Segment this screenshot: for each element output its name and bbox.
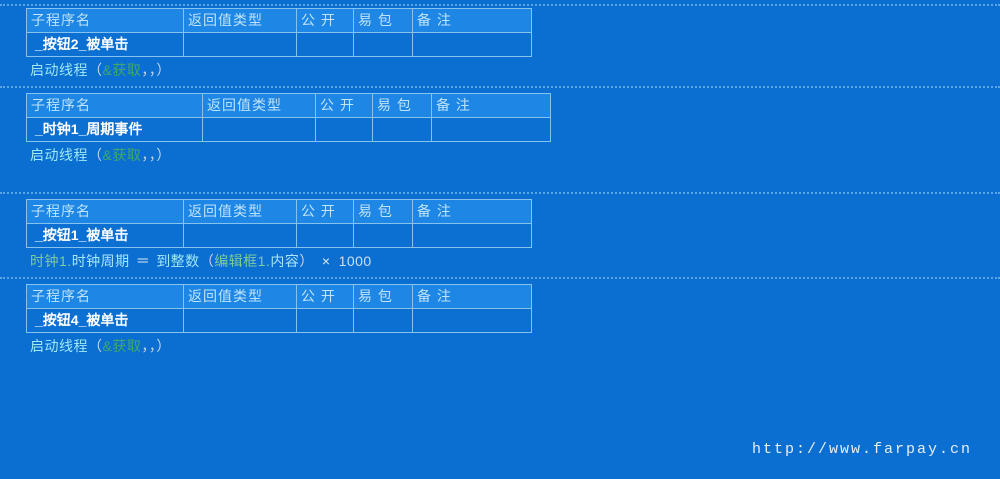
- code-argument: &获取: [103, 62, 142, 78]
- table-row[interactable]: _按钮2_被单击: [27, 33, 532, 57]
- header-easy-pack: 易 包: [354, 9, 413, 33]
- header-public: 公 开: [297, 9, 354, 33]
- code-number-literal: 1000: [339, 253, 372, 269]
- code-function-name: 启动线程: [30, 338, 88, 354]
- subroutine-table-4[interactable]: 子程序名 返回值类型 公 开 易 包 备 注 _按钮4_被单击: [26, 284, 532, 333]
- header-remark: 备 注: [413, 200, 532, 224]
- code-paren-open: （: [200, 253, 215, 269]
- code-object-clock: 时钟1.: [30, 253, 72, 269]
- header-public: 公 开: [316, 94, 373, 118]
- cell-public[interactable]: [297, 33, 354, 57]
- cell-easy-pack[interactable]: [354, 309, 413, 333]
- code-argument: &获取: [103, 338, 142, 354]
- code-block-2: 子程序名 返回值类型 公 开 易 包 备 注 _时钟1_周期事件 启动线程（&获…: [26, 93, 551, 165]
- cell-sub-name[interactable]: _按钮4_被单击: [27, 309, 184, 333]
- cell-sub-name[interactable]: _时钟1_周期事件: [27, 118, 203, 142]
- cell-remark[interactable]: [413, 309, 532, 333]
- code-paren-close: ）: [299, 253, 314, 269]
- code-statement-1[interactable]: 启动线程（&获取，，）: [26, 60, 532, 80]
- code-argument: &获取: [103, 147, 142, 163]
- cell-sub-name[interactable]: _按钮1_被单击: [27, 224, 184, 248]
- header-remark: 备 注: [432, 94, 551, 118]
- code-function-to-int: 到整数: [156, 253, 200, 269]
- code-paren-open: （: [88, 147, 103, 163]
- header-return-type: 返回值类型: [184, 285, 297, 309]
- header-public: 公 开: [297, 285, 354, 309]
- code-block-4: 子程序名 返回值类型 公 开 易 包 备 注 _按钮4_被单击 启动线程（&获取…: [26, 284, 532, 356]
- code-statement-2[interactable]: 启动线程（&获取，，）: [26, 145, 551, 165]
- cell-easy-pack[interactable]: [354, 224, 413, 248]
- code-function-name: 启动线程: [30, 62, 88, 78]
- code-paren-close: ）: [156, 62, 171, 78]
- header-remark: 备 注: [413, 285, 532, 309]
- cell-easy-pack[interactable]: [373, 118, 432, 142]
- cell-return-type[interactable]: [184, 224, 297, 248]
- header-return-type: 返回值类型: [184, 200, 297, 224]
- header-easy-pack: 易 包: [354, 285, 413, 309]
- code-paren-close: ）: [156, 147, 171, 163]
- cell-public[interactable]: [297, 224, 354, 248]
- cell-remark[interactable]: [413, 33, 532, 57]
- code-block-3: 子程序名 返回值类型 公 开 易 包 备 注 _按钮1_被单击 时钟1.时钟周期…: [26, 199, 532, 271]
- cell-easy-pack[interactable]: [354, 33, 413, 57]
- table-header-row: 子程序名 返回值类型 公 开 易 包 备 注: [27, 9, 532, 33]
- code-statement-3[interactable]: 时钟1.时钟周期＝到整数（编辑框1.内容）×1000: [26, 251, 532, 271]
- cell-remark[interactable]: [413, 224, 532, 248]
- cell-return-type[interactable]: [203, 118, 316, 142]
- code-assign-operator: ＝: [136, 253, 151, 269]
- block-separator-2: [0, 192, 1000, 194]
- block-separator-3: [0, 277, 1000, 279]
- code-paren-open: （: [88, 338, 103, 354]
- header-remark: 备 注: [413, 9, 532, 33]
- cell-remark[interactable]: [432, 118, 551, 142]
- code-comma-1: ，: [141, 62, 149, 78]
- cell-public[interactable]: [316, 118, 373, 142]
- header-return-type: 返回值类型: [203, 94, 316, 118]
- code-paren-open: （: [88, 62, 103, 78]
- code-function-name: 启动线程: [30, 147, 88, 163]
- code-statement-4[interactable]: 启动线程（&获取，，）: [26, 336, 532, 356]
- header-sub-name: 子程序名: [27, 285, 184, 309]
- code-block-1: 子程序名 返回值类型 公 开 易 包 备 注 _按钮2_被单击 启动线程（&获取…: [26, 8, 532, 80]
- code-paren-close: ）: [156, 338, 171, 354]
- header-public: 公 开: [297, 200, 354, 224]
- table-row[interactable]: _按钮1_被单击: [27, 224, 532, 248]
- header-sub-name: 子程序名: [27, 9, 184, 33]
- watermark-url: http://www.farpay.cn: [752, 441, 972, 458]
- table-header-row: 子程序名 返回值类型 公 开 易 包 备 注: [27, 200, 532, 224]
- header-sub-name: 子程序名: [27, 200, 184, 224]
- block-separator-1: [0, 86, 1000, 88]
- subroutine-table-2[interactable]: 子程序名 返回值类型 公 开 易 包 备 注 _时钟1_周期事件: [26, 93, 551, 142]
- table-row[interactable]: _按钮4_被单击: [27, 309, 532, 333]
- code-property-period: 时钟周期: [72, 253, 130, 269]
- code-property-content: 内容: [270, 253, 299, 269]
- subroutine-table-1[interactable]: 子程序名 返回值类型 公 开 易 包 备 注 _按钮2_被单击: [26, 8, 532, 57]
- header-return-type: 返回值类型: [184, 9, 297, 33]
- table-row[interactable]: _时钟1_周期事件: [27, 118, 551, 142]
- table-header-row: 子程序名 返回值类型 公 开 易 包 备 注: [27, 285, 532, 309]
- code-comma-1: ，: [141, 147, 149, 163]
- header-sub-name: 子程序名: [27, 94, 203, 118]
- cell-sub-name[interactable]: _按钮2_被单击: [27, 33, 184, 57]
- editor-canvas: 子程序名 返回值类型 公 开 易 包 备 注 _按钮2_被单击 启动线程（&获取…: [0, 0, 1000, 479]
- block-separator-top: [0, 4, 1000, 6]
- header-easy-pack: 易 包: [373, 94, 432, 118]
- cell-return-type[interactable]: [184, 309, 297, 333]
- subroutine-table-3[interactable]: 子程序名 返回值类型 公 开 易 包 备 注 _按钮1_被单击: [26, 199, 532, 248]
- cell-return-type[interactable]: [184, 33, 297, 57]
- code-comma-1: ，: [141, 338, 149, 354]
- cell-public[interactable]: [297, 309, 354, 333]
- header-easy-pack: 易 包: [354, 200, 413, 224]
- code-multiply-operator: ×: [322, 253, 331, 269]
- table-header-row: 子程序名 返回值类型 公 开 易 包 备 注: [27, 94, 551, 118]
- code-object-editbox: 编辑框1.: [214, 253, 270, 269]
